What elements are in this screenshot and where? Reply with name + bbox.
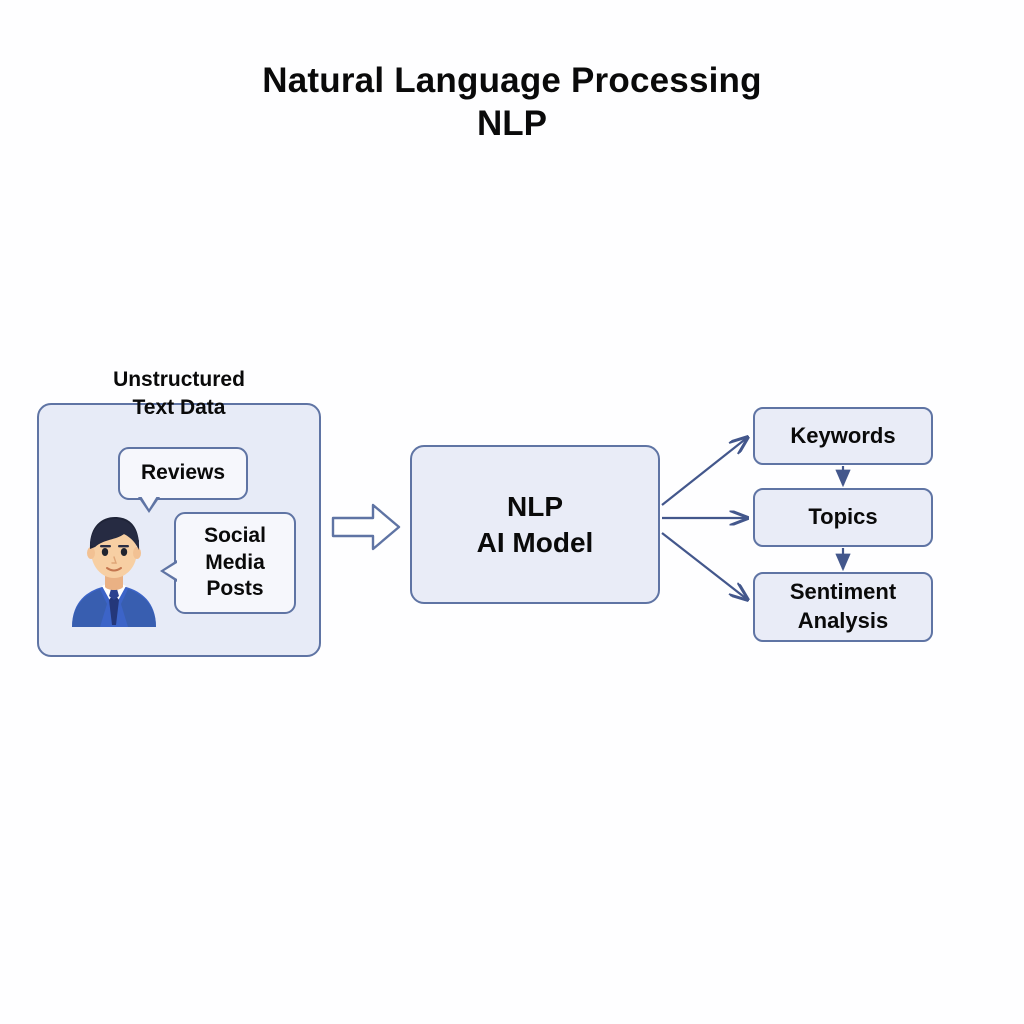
person-avatar (62, 505, 166, 627)
bubble-social-line-3: Posts (206, 576, 263, 603)
title-line-1: Natural Language Processing (0, 60, 1024, 103)
model-line-2: AI Model (477, 525, 594, 561)
model-line-1: NLP (507, 489, 563, 525)
output-sentiment-line-2: Analysis (798, 607, 889, 636)
output-box-keywords: Keywords (753, 407, 933, 465)
speech-bubble-reviews: Reviews (118, 447, 248, 500)
bubble-social-line-2: Media (205, 550, 265, 577)
output-keywords-label: Keywords (790, 422, 895, 451)
speech-bubble-social-media-posts: Social Media Posts (174, 512, 296, 614)
output-box-topics: Topics (753, 488, 933, 547)
nlp-ai-model-box: NLP AI Model (410, 445, 660, 604)
block-arrow-right-icon (330, 500, 402, 554)
bubble-social-line-1: Social (204, 523, 266, 550)
bubble-tail-icon (138, 497, 160, 513)
output-sentiment-line-1: Sentiment (790, 578, 896, 607)
bubble-reviews-label: Reviews (141, 460, 225, 487)
page-title: Natural Language Processing NLP (0, 60, 1024, 145)
diagram-canvas: Natural Language Processing NLP Unstruct… (0, 0, 1024, 1024)
output-box-sentiment-analysis: Sentiment Analysis (753, 572, 933, 642)
output-topics-label: Topics (808, 503, 877, 532)
arrow-model-to-keywords (662, 437, 748, 505)
arrow-model-to-sentiment (662, 533, 748, 600)
title-line-2: NLP (0, 103, 1024, 146)
source-label-line-1: Unstructured (37, 366, 321, 394)
bubble-tail-icon (160, 560, 177, 582)
